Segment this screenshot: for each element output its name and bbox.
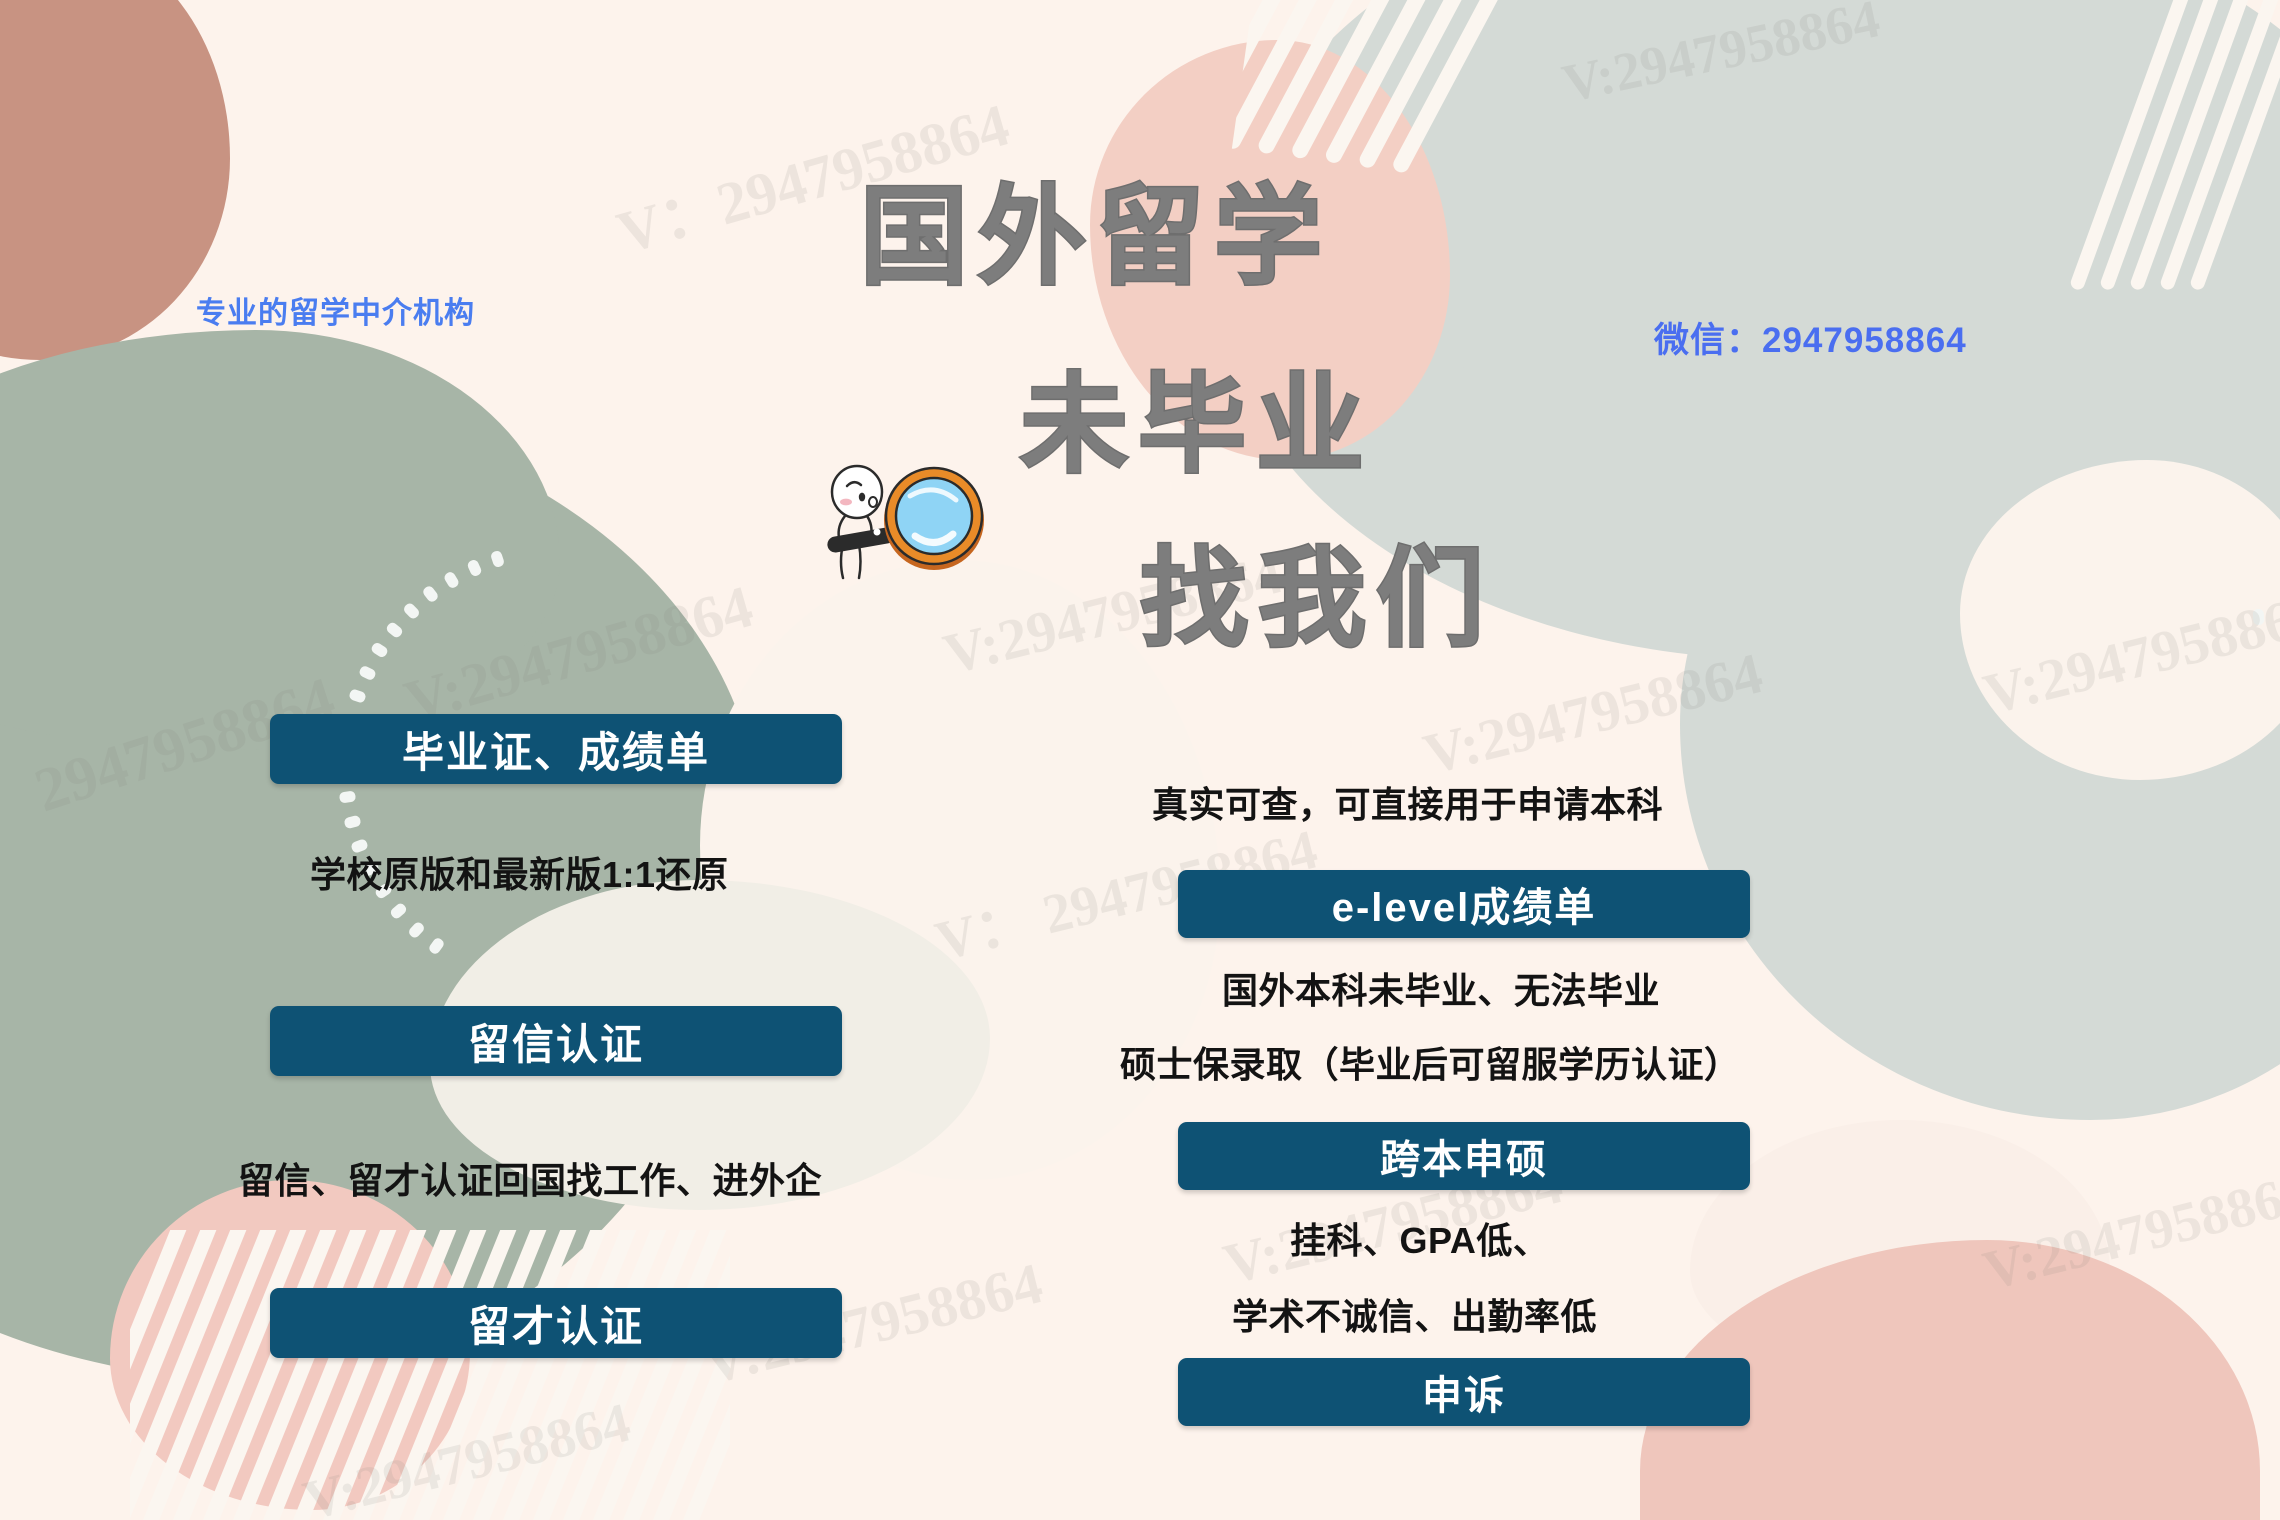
headline-block: 国外留学 未毕业 找我们 — [0, 0, 2280, 660]
caption-cross-line-2: 学术不诚信、出勤率低 — [1232, 1288, 1597, 1340]
badge-liuxin-certification[interactable]: 留信认证 — [270, 1006, 842, 1076]
badge-appeal[interactable]: 申诉 — [1178, 1358, 1750, 1426]
caption-right-intro: 真实可查，可直接用于申请本科 — [1152, 776, 1663, 828]
poster-canvas: V:2947958864V：2947958864V:2947958864V:29… — [0, 0, 2280, 1520]
caption-elevel-line-1: 国外本科未毕业、无法毕业 — [1222, 962, 1660, 1014]
badge-diploma-transcript[interactable]: 毕业证、成绩单 — [270, 714, 842, 784]
headline-line-3: 找我们 — [1140, 512, 1494, 668]
caption-cross-line-1: 挂科、GPA低、 — [1290, 1212, 1549, 1264]
headline-line-1: 国外留学 — [860, 150, 1332, 306]
caption-diploma-transcript: 学校原版和最新版1:1还原 — [310, 846, 729, 898]
headline-line-2: 未毕业 — [1020, 338, 1374, 494]
badge-elevel-transcript[interactable]: e-level成绩单 — [1178, 870, 1750, 938]
caption-liuxin-certification: 留信、留才认证回国找工作、进外企 — [238, 1152, 822, 1204]
magnifier-character-icon — [815, 458, 990, 588]
caption-elevel-line-2: 硕士保录取（毕业后可留服学历认证） — [1120, 1036, 1741, 1088]
badge-liucai-certification[interactable]: 留才认证 — [270, 1288, 842, 1358]
badge-cross-bachelor-master[interactable]: 跨本申硕 — [1178, 1122, 1750, 1190]
